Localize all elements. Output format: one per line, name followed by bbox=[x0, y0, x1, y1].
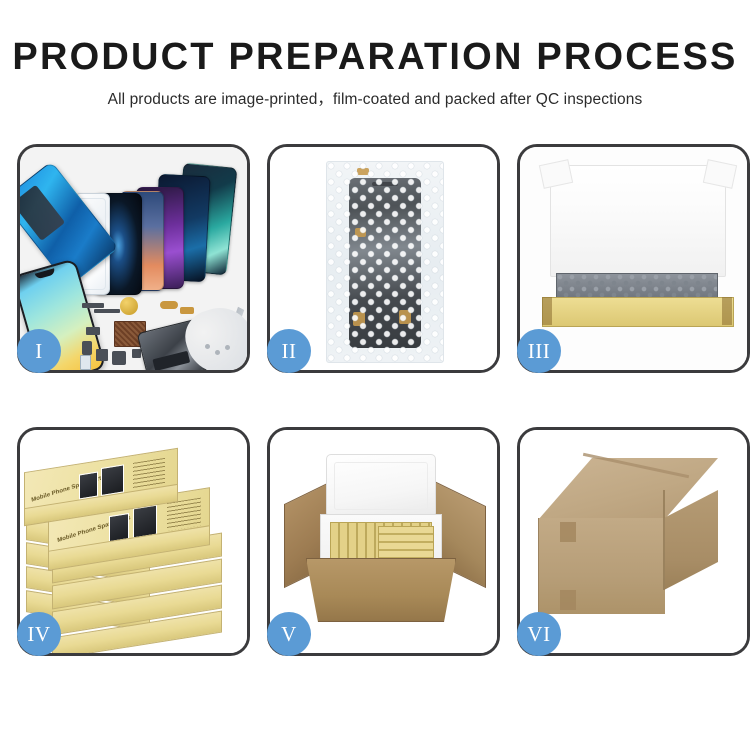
box-stack-group: Mobile Phone Spare Parts Mobile Phone Sp… bbox=[22, 442, 247, 647]
part-sim-tray-icon bbox=[80, 355, 91, 370]
step-panel-5[interactable]: V bbox=[267, 427, 500, 656]
printed-box-1-chip-a-icon bbox=[79, 471, 98, 499]
part-chip-a-icon bbox=[86, 327, 100, 335]
step-panel-1[interactable]: I bbox=[17, 144, 250, 373]
box-flap-left-icon bbox=[542, 297, 552, 325]
step-badge-4: IV bbox=[17, 612, 61, 656]
part-gold-disc-icon bbox=[120, 297, 138, 315]
carton-tape-upper-icon bbox=[560, 522, 576, 542]
part-camera-icon bbox=[112, 351, 126, 365]
process-steps-grid: I II III bbox=[17, 144, 733, 656]
carton-body-icon bbox=[306, 558, 456, 622]
step-badge-2: II bbox=[267, 329, 311, 373]
page-subtitle: All products are image-printed，film-coat… bbox=[0, 87, 750, 109]
carton-vertical-edge-icon bbox=[663, 490, 665, 590]
part-chip-d-icon bbox=[132, 349, 141, 358]
part-chip-c-icon bbox=[96, 349, 108, 361]
bubble-wrap-bag-icon bbox=[326, 161, 444, 363]
part-chip-b-icon bbox=[82, 341, 92, 355]
carton-front-face-icon bbox=[538, 518, 665, 614]
step-badge-6: VI bbox=[517, 612, 561, 656]
foam-lid-icon bbox=[326, 454, 436, 518]
part-flex-cable-icon bbox=[160, 301, 178, 309]
carton-tape-lower-icon bbox=[560, 590, 576, 610]
printed-box-1-chip-b-icon bbox=[101, 464, 124, 496]
step-panel-2[interactable]: II bbox=[267, 144, 500, 373]
screw-3-icon bbox=[225, 345, 230, 350]
inner-box-front-icon bbox=[542, 297, 734, 327]
step-panel-4[interactable]: Mobile Phone Spare Parts Mobile Phone Sp… bbox=[17, 427, 250, 656]
page-title: PRODUCT PREPARATION PROCESS bbox=[0, 38, 750, 78]
screw-1-icon bbox=[205, 344, 210, 349]
step-panel-3[interactable]: III bbox=[517, 144, 750, 373]
printed-box-1-text-lines bbox=[133, 458, 165, 489]
part-strip-icon bbox=[94, 309, 120, 313]
part-bar-icon bbox=[82, 303, 104, 308]
step-badge-5: V bbox=[267, 612, 311, 656]
page-header: PRODUCT PREPARATION PROCESS All products… bbox=[0, 0, 750, 109]
step-badge-3: III bbox=[517, 329, 561, 373]
foam-sheet-icon bbox=[550, 165, 726, 277]
box-flap-right-icon bbox=[722, 297, 732, 325]
screw-2-icon bbox=[215, 350, 220, 355]
part-connector-icon bbox=[180, 307, 194, 314]
bubble-texture bbox=[327, 162, 443, 362]
step-panel-6[interactable]: VI bbox=[517, 427, 750, 656]
screws-group bbox=[203, 342, 237, 362]
step-badge-1: I bbox=[17, 329, 61, 373]
